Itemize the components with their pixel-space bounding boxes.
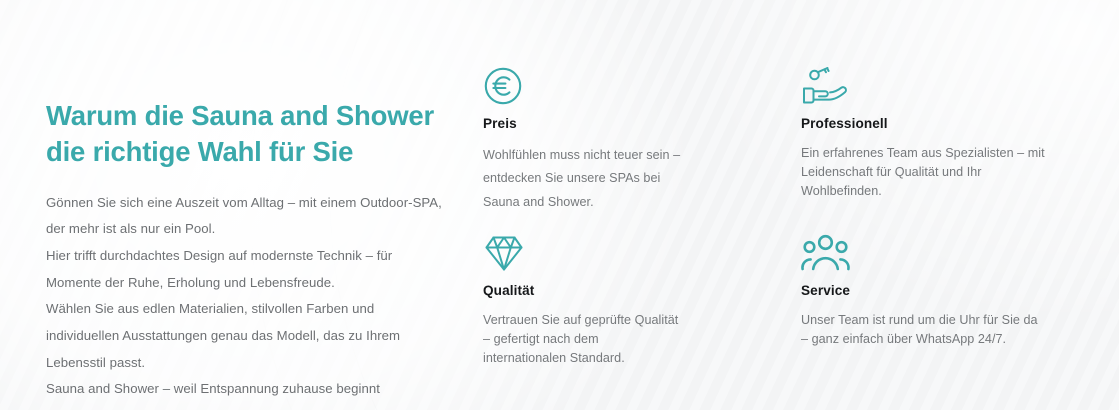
feature-card-professionell: Professionell Ein erfahrenes Team aus Sp… bbox=[801, 66, 1061, 201]
feature-title: Preis bbox=[483, 116, 688, 131]
marketing-section: Warum die Sauna and Shower die richtige … bbox=[0, 0, 1119, 410]
feature-description: Vertrauen Sie auf geprüfte Qualität – ge… bbox=[483, 311, 683, 368]
feature-description: Wohlfühlen muss nicht teuer sein – entde… bbox=[483, 144, 688, 214]
feature-card-preis: Preis Wohlfühlen muss nicht teuer sein –… bbox=[483, 66, 688, 214]
hand-key-icon bbox=[801, 66, 1061, 110]
diamond-icon bbox=[483, 233, 683, 277]
feature-title: Qualität bbox=[483, 283, 683, 298]
feature-card-qualitaet: Qualität Vertrauen Sie auf geprüfte Qual… bbox=[483, 233, 683, 368]
feature-grid: Preis Wohlfühlen muss nicht teuer sein –… bbox=[0, 0, 1119, 410]
feature-description: Ein erfahrenes Team aus Spezialisten – m… bbox=[801, 144, 1061, 201]
feature-description: Unser Team ist rund um die Uhr für Sie d… bbox=[801, 311, 1041, 349]
feature-card-service: Service Unser Team ist rund um die Uhr f… bbox=[801, 233, 1041, 349]
feature-title: Service bbox=[801, 283, 1041, 298]
feature-title: Professionell bbox=[801, 116, 1061, 131]
euro-circle-icon bbox=[483, 66, 688, 110]
people-group-icon bbox=[801, 233, 1041, 277]
